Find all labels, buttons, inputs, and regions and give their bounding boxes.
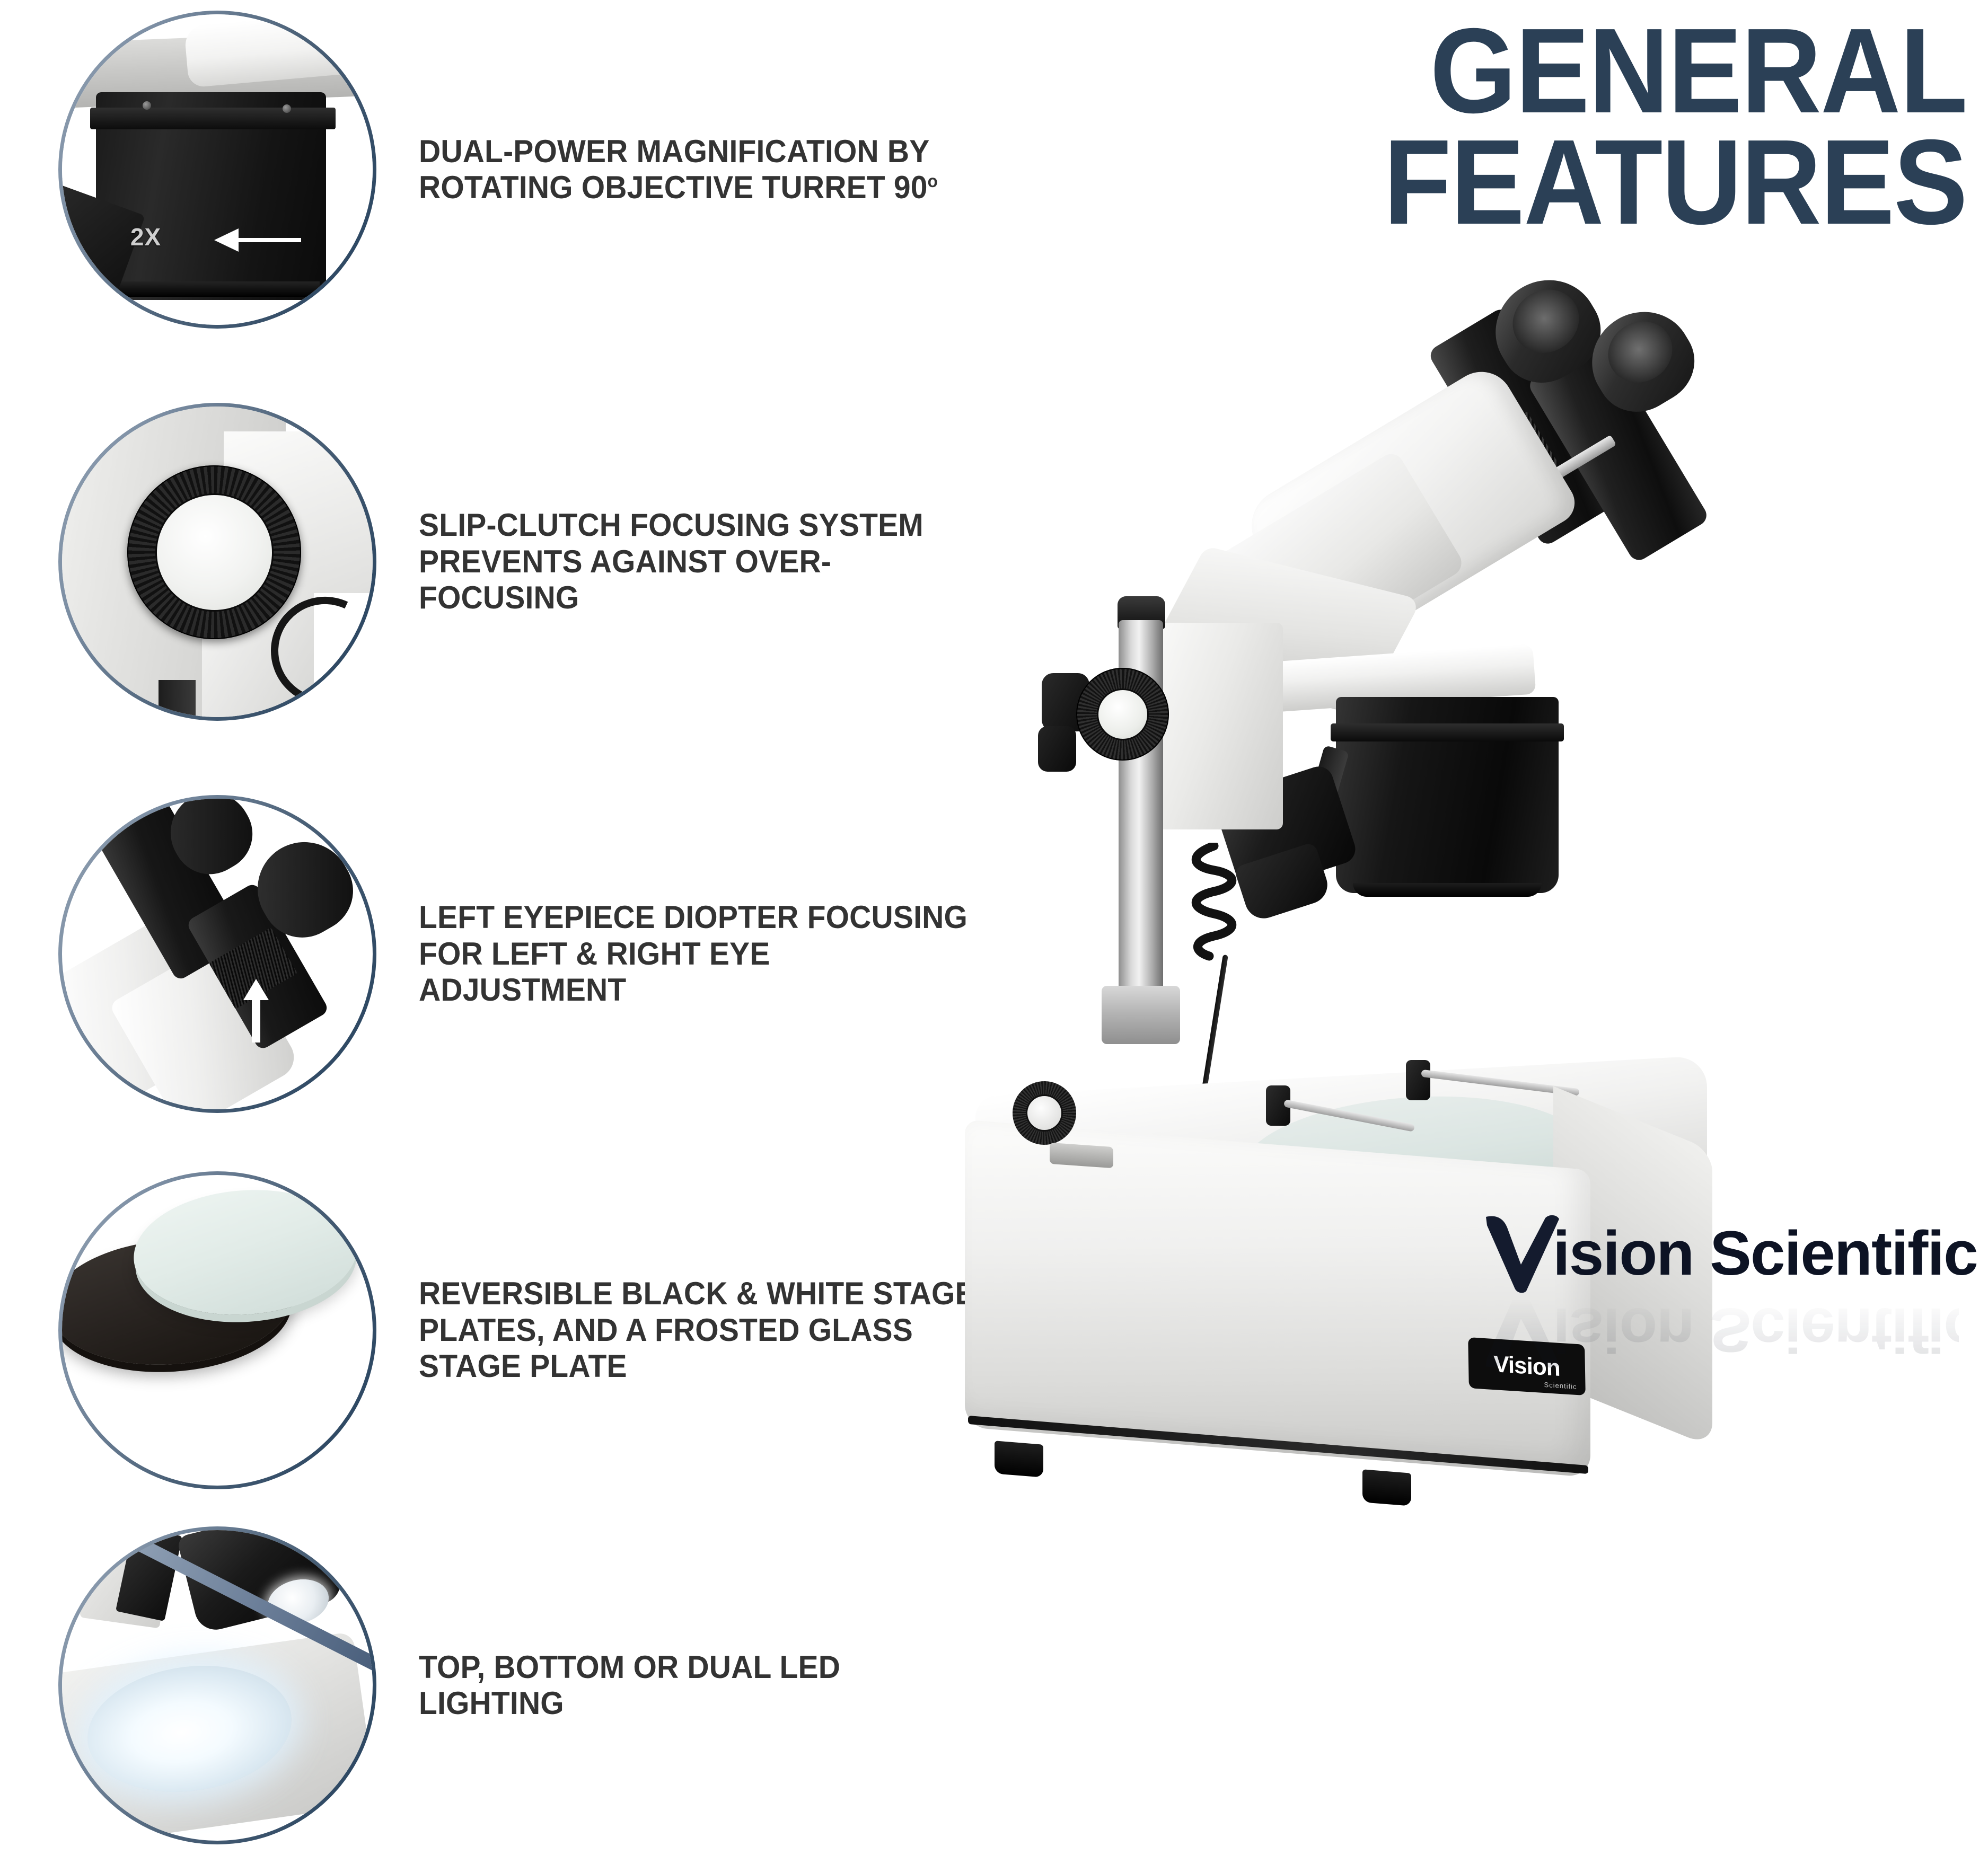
checkmark-v-icon-reflection xyxy=(1482,1290,1561,1370)
base-foot-right xyxy=(1362,1469,1411,1506)
eyepiece-diopter-thumbnail xyxy=(58,795,376,1113)
objective-turret-photo: 2X xyxy=(62,14,373,325)
focus-bracket xyxy=(1150,623,1283,829)
circle-ring-border xyxy=(58,795,376,1113)
logo-brand-text: ision Scientific xyxy=(1553,1217,1977,1289)
checkmark-v-icon xyxy=(1482,1214,1561,1293)
circle-ring-border xyxy=(58,1526,376,1844)
power-cord xyxy=(1200,955,1228,1102)
feature-text-slip-clutch-focusing: SLIP-CLUTCH FOCUSING SYSTEM PREVENTS AGA… xyxy=(419,507,983,616)
product-photo-microscope: Vision Scientific xyxy=(944,249,1967,1844)
focus-knob-photo xyxy=(62,407,373,717)
logo-brand-text-reflection: ision Scientific xyxy=(1553,1294,1977,1366)
lighting-switch xyxy=(1050,1143,1113,1168)
page-title-line-1: GENERAL xyxy=(1162,16,1967,127)
feature-row-slip-clutch-focusing: SLIP-CLUTCH FOCUSING SYSTEM PREVENTS AGA… xyxy=(58,403,1013,721)
objective-turret-thumbnail: 2X xyxy=(58,11,376,329)
up-arrow-icon xyxy=(242,979,270,1043)
feature-row-objective-turret: 2X DUAL-POWER MAGNIFICATION BY ROTATING … xyxy=(58,11,1013,329)
feature-text-stage-plates: REVERSIBLE BLACK & WHITE STAGE PLATES, A… xyxy=(419,1276,983,1384)
infographic-page: GENERAL FEATURES 2X xyxy=(0,0,1988,1855)
circle-ring-border xyxy=(58,1171,376,1489)
focus-knob-thumbnail xyxy=(58,403,376,721)
page-title-line-2: FEATURES xyxy=(1162,127,1967,238)
page-title: GENERAL FEATURES xyxy=(1092,16,1967,238)
feature-row-led-lighting: TOP, BOTTOM OR DUAL LED LIGHTING xyxy=(58,1526,1013,1844)
left-arrow-icon xyxy=(211,225,301,254)
feature-text-diopter-focusing: LEFT EYEPIECE DIOPTER FOCUSING FOR LEFT … xyxy=(419,899,983,1008)
circle-ring-border: 2X xyxy=(58,11,376,329)
stage-plates-thumbnail xyxy=(58,1171,376,1489)
magnification-label: 2X xyxy=(130,223,161,251)
led-lighting-photo xyxy=(62,1530,373,1841)
base-foot-left xyxy=(995,1441,1043,1477)
vision-scientific-logo: ision Scientific ision Scientific xyxy=(1482,1214,1959,1394)
feature-row-diopter-focusing: LEFT EYEPIECE DIOPTER FOCUSING FOR LEFT … xyxy=(58,795,1013,1113)
stage-plates-photo xyxy=(62,1175,373,1486)
led-lighting-thumbnail xyxy=(58,1526,376,1844)
feature-text-led-lighting: TOP, BOTTOM OR DUAL LED LIGHTING xyxy=(419,1649,983,1722)
eyepiece-diopter-photo xyxy=(62,799,373,1109)
coiled-cable xyxy=(1185,843,1243,970)
feature-text-objective-turret: DUAL-POWER MAGNIFICATION BY ROTATING OBJ… xyxy=(419,134,983,206)
feature-row-stage-plates: REVERSIBLE BLACK & WHITE STAGE PLATES, A… xyxy=(58,1171,1013,1489)
circle-ring-border xyxy=(58,403,376,721)
